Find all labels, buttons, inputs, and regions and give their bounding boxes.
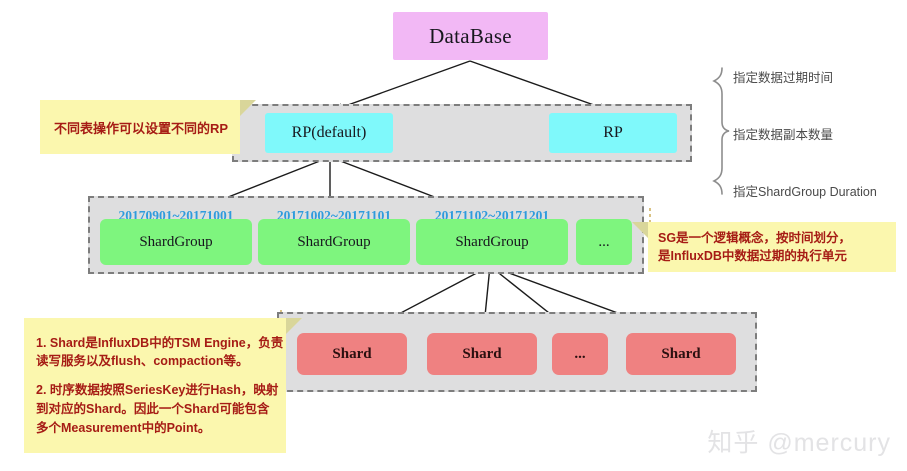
shard-group-label-1: ShardGroup	[139, 234, 212, 251]
callout-shard-p2-line-2: 到对应的Shard。因此一个Shard可能包含	[36, 400, 274, 419]
database-node[interactable]: DataBase	[393, 12, 548, 60]
callout-shard-p2-line-3: 多个Measurement中的Point。	[36, 419, 274, 438]
shard-node-1[interactable]: Shard	[297, 333, 407, 375]
brace-label-duration: 指定ShardGroup Duration	[733, 181, 877, 200]
database-label: DataBase	[429, 24, 512, 49]
diagram-canvas: DataBase RP(default) RP 20170901~2017100…	[0, 0, 907, 471]
shard-label-more: ...	[574, 346, 585, 363]
rp-default-node[interactable]: RP(default)	[265, 113, 393, 153]
brace-label-replication: 指定数据副本数量	[733, 124, 833, 143]
callout-fold-icon	[286, 318, 302, 334]
brace-label-retention: 指定数据过期时间	[733, 67, 833, 86]
shard-group-node-3[interactable]: ShardGroup	[416, 219, 568, 265]
shard-node-2[interactable]: Shard	[427, 333, 537, 375]
rp-brace	[714, 68, 729, 194]
rp-label: RP	[603, 124, 623, 142]
callout-sg-line-1: SG是一个逻辑概念，按时间划分，	[658, 229, 896, 247]
shard-group-node-more[interactable]: ...	[576, 219, 632, 265]
rp-node[interactable]: RP	[549, 113, 677, 153]
shard-group-node-1[interactable]: ShardGroup	[100, 219, 252, 265]
shard-group-label-3: ShardGroup	[455, 234, 528, 251]
shard-node-more[interactable]: ...	[552, 333, 608, 375]
arrow-database-to-rp	[334, 61, 608, 110]
callout-sg-line-2: 是InfluxDB中数据过期的执行单元	[658, 247, 896, 265]
callout-retention-policy: 不同表操作可以设置不同的RP	[40, 100, 240, 154]
shard-group-label-2: ShardGroup	[297, 234, 370, 251]
rp-default-label: RP(default)	[292, 124, 367, 142]
shard-label-1: Shard	[332, 346, 371, 363]
watermark: 知乎 @mercury	[707, 423, 891, 459]
shard-group-node-2[interactable]: ShardGroup	[258, 219, 410, 265]
callout-fold-icon	[632, 222, 648, 238]
callout-shard-p2-line-1: 2. 时序数据按照SeriesKey进行Hash，映射	[36, 381, 274, 400]
shard-label-2: Shard	[462, 346, 501, 363]
shard-label-3: Shard	[661, 346, 700, 363]
callout-fold-icon	[240, 100, 256, 116]
callout-shard-paragraph-2: 2. 时序数据按照SeriesKey进行Hash，映射 到对应的Shard。因此…	[36, 381, 274, 437]
callout-shard-p1-line-2: 读写服务以及flush、compaction等。	[36, 352, 274, 371]
shard-node-3[interactable]: Shard	[626, 333, 736, 375]
callout-shard-group: SG是一个逻辑概念，按时间划分， 是InfluxDB中数据过期的执行单元	[648, 222, 896, 272]
callout-shard-p1-line-1: 1. Shard是InfluxDB中的TSM Engine，负责	[36, 334, 274, 353]
callout-rp-line-1: 不同表操作可以设置不同的RP	[54, 118, 240, 137]
callout-shard: 1. Shard是InfluxDB中的TSM Engine，负责 读写服务以及f…	[24, 318, 286, 453]
shard-group-label-more: ...	[598, 234, 609, 251]
callout-shard-paragraph-1: 1. Shard是InfluxDB中的TSM Engine，负责 读写服务以及f…	[36, 334, 274, 372]
